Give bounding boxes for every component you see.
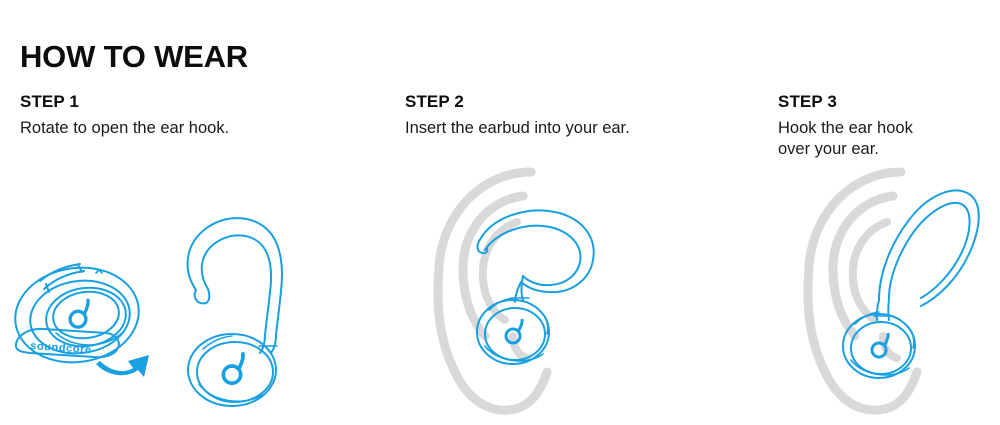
step-3-heading: STEP 3 bbox=[778, 92, 978, 112]
step-3-figure bbox=[775, 150, 1000, 425]
rotate-arrow-icon bbox=[96, 355, 149, 377]
step-3-description-line-1: Hook the ear hook bbox=[778, 118, 978, 139]
step-1-description: Rotate to open the ear hook. bbox=[20, 118, 380, 139]
earbud-hooked-over-ear bbox=[843, 190, 979, 378]
step-1-figure: soundcore bbox=[0, 165, 400, 395]
soundcore-logo-icon bbox=[70, 300, 88, 327]
step-2: STEP 2 Insert the earbud into your ear. bbox=[405, 92, 765, 139]
step-2-description: Insert the earbud into your ear. bbox=[405, 118, 765, 139]
step-2-figure bbox=[405, 150, 665, 425]
step-1: STEP 1 Rotate to open the ear hook. bbox=[20, 92, 380, 139]
step-1-heading: STEP 1 bbox=[20, 92, 380, 112]
ear-outline bbox=[438, 172, 547, 410]
steps-container: STEP 1 Rotate to open the ear hook. bbox=[0, 0, 1000, 425]
soundcore-logo-icon bbox=[223, 354, 243, 383]
step-2-heading: STEP 2 bbox=[405, 92, 765, 112]
earbud-open bbox=[188, 218, 282, 406]
